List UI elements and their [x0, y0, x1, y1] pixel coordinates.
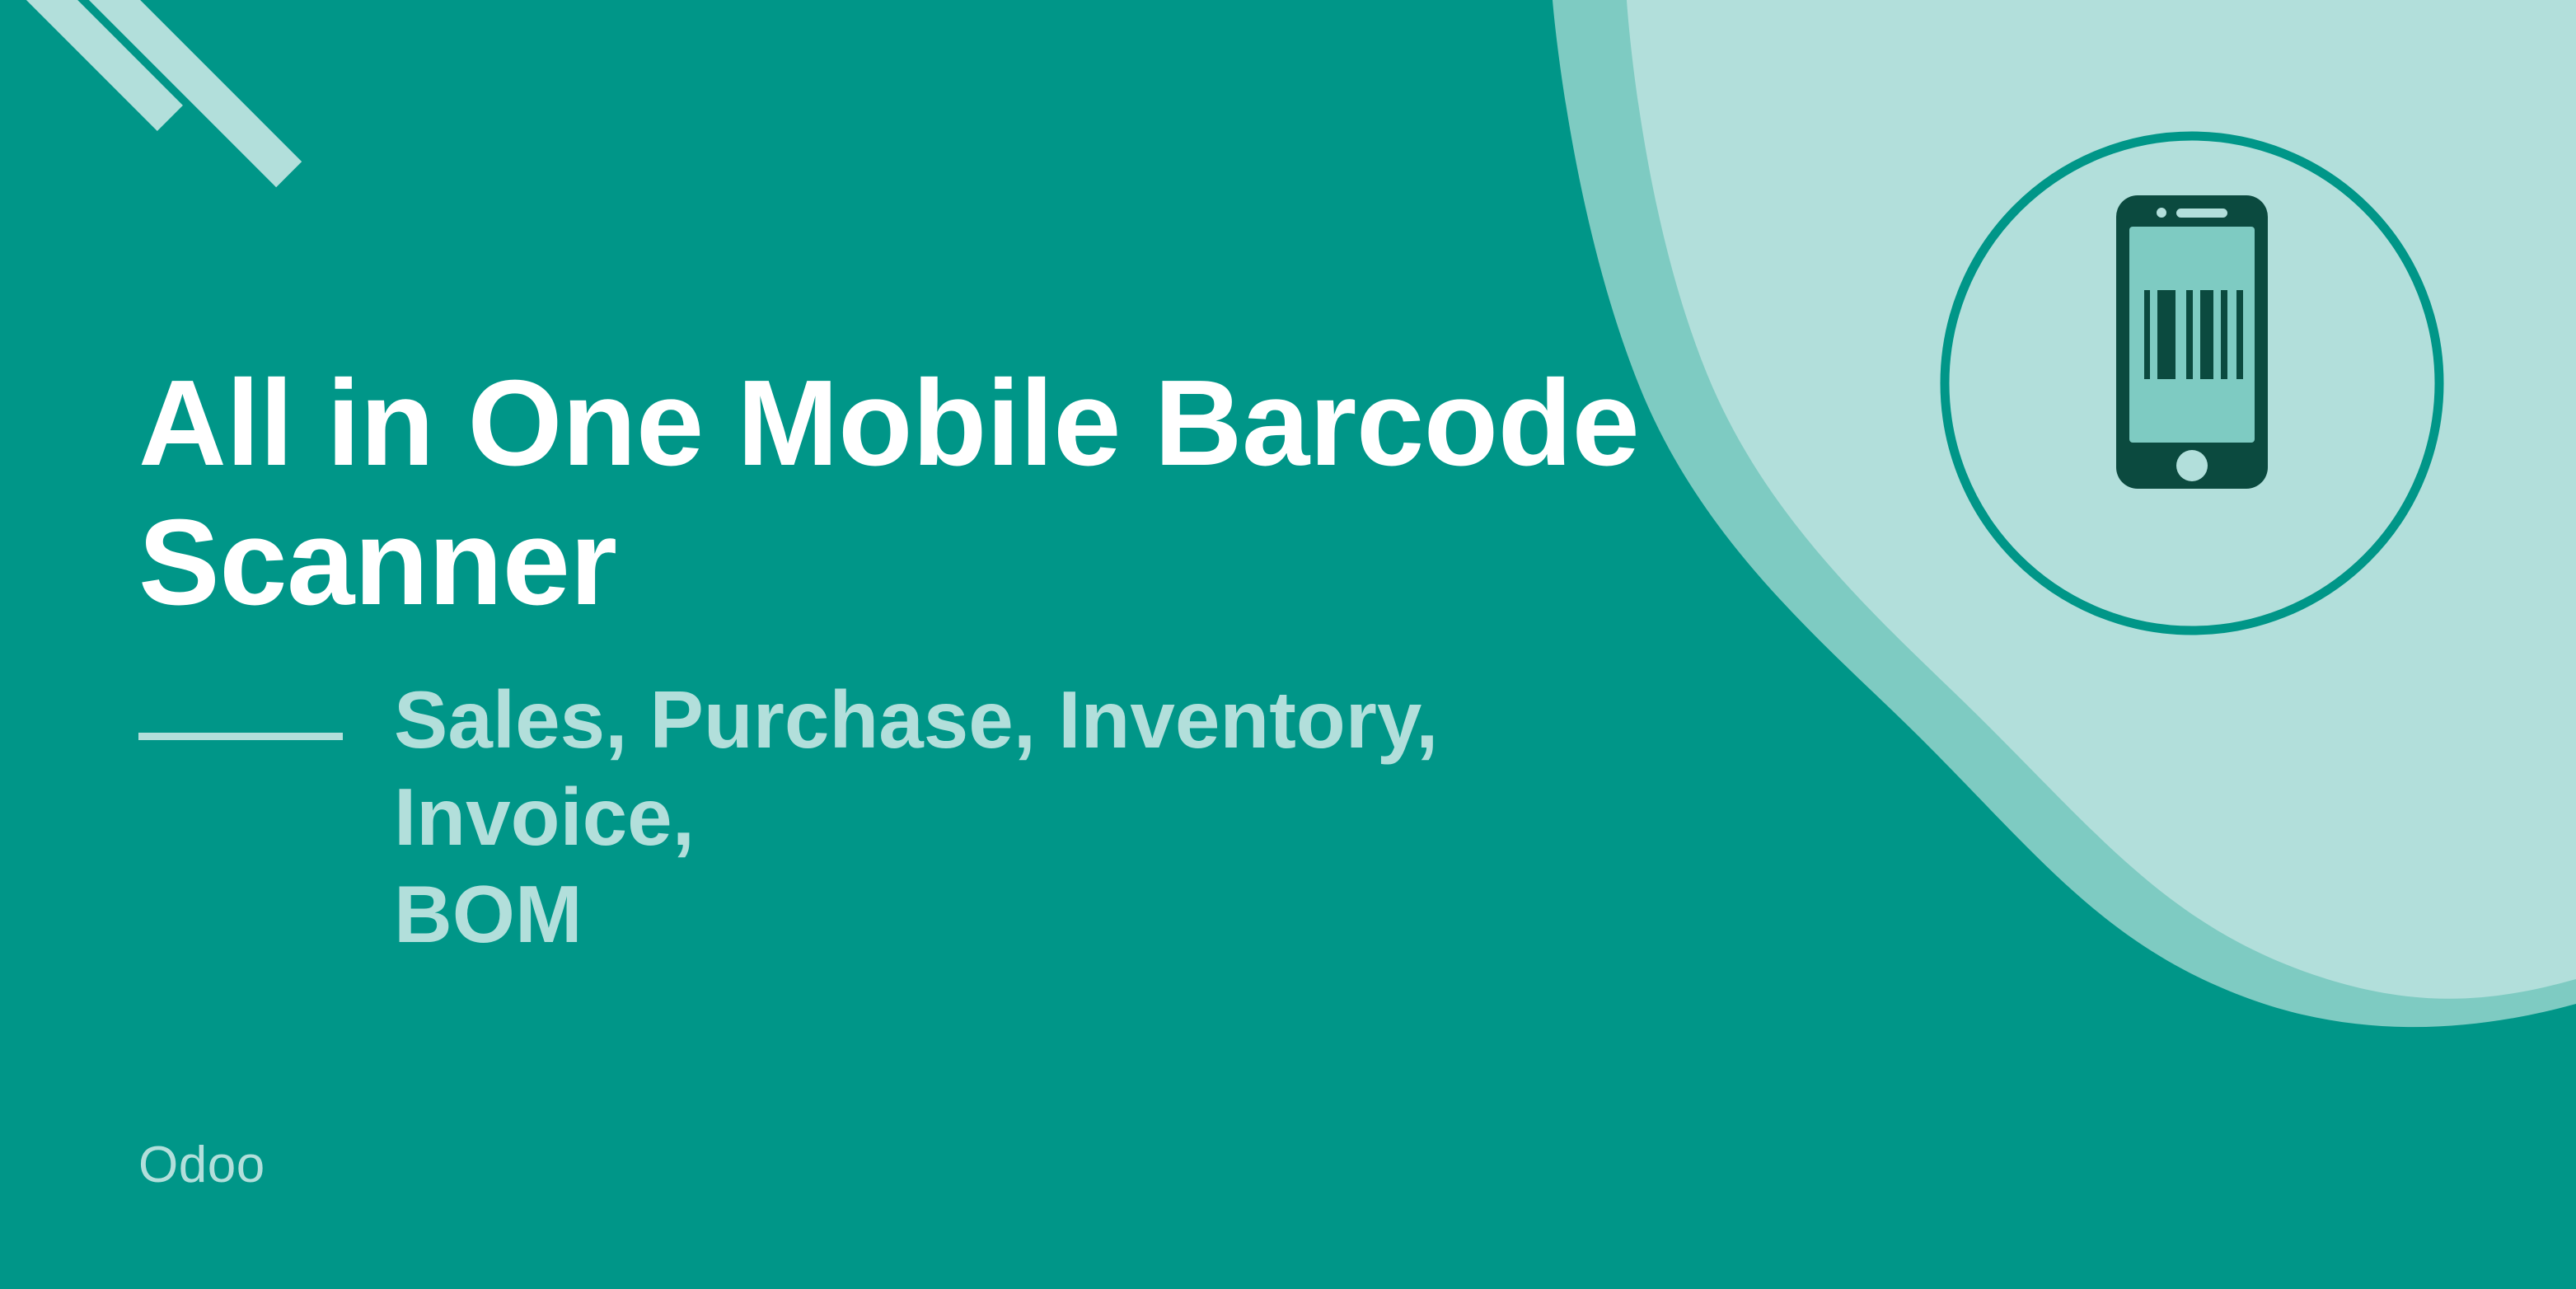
phone-camera-dot [2157, 208, 2166, 218]
phone-home-button [2176, 450, 2208, 481]
barcode-bar-3 [2186, 290, 2193, 379]
subtitle-divider-rule [138, 733, 343, 740]
page-subtitle: Sales, Purchase, Inventory, Invoice, BOM [394, 672, 1745, 963]
subtitle-row: Sales, Purchase, Inventory, Invoice, BOM [138, 672, 1787, 963]
barcode-bar-6 [2236, 290, 2243, 379]
footer-brand: Odoo [138, 1136, 265, 1194]
barcode-bar-4 [2200, 290, 2213, 379]
text-content: All in One Mobile Barcode Scanner Sales,… [138, 354, 1787, 963]
mobile-barcode-scanner-icon [1928, 120, 2456, 647]
presentation-slide: All in One Mobile Barcode Scanner Sales,… [0, 0, 2576, 1289]
barcode-bar-1 [2144, 290, 2150, 379]
barcode-bar-5 [2221, 290, 2227, 379]
phone-speaker-slot [2176, 209, 2227, 218]
barcode-bar-2 [2157, 290, 2176, 379]
page-title: All in One Mobile Barcode Scanner [138, 354, 1704, 632]
